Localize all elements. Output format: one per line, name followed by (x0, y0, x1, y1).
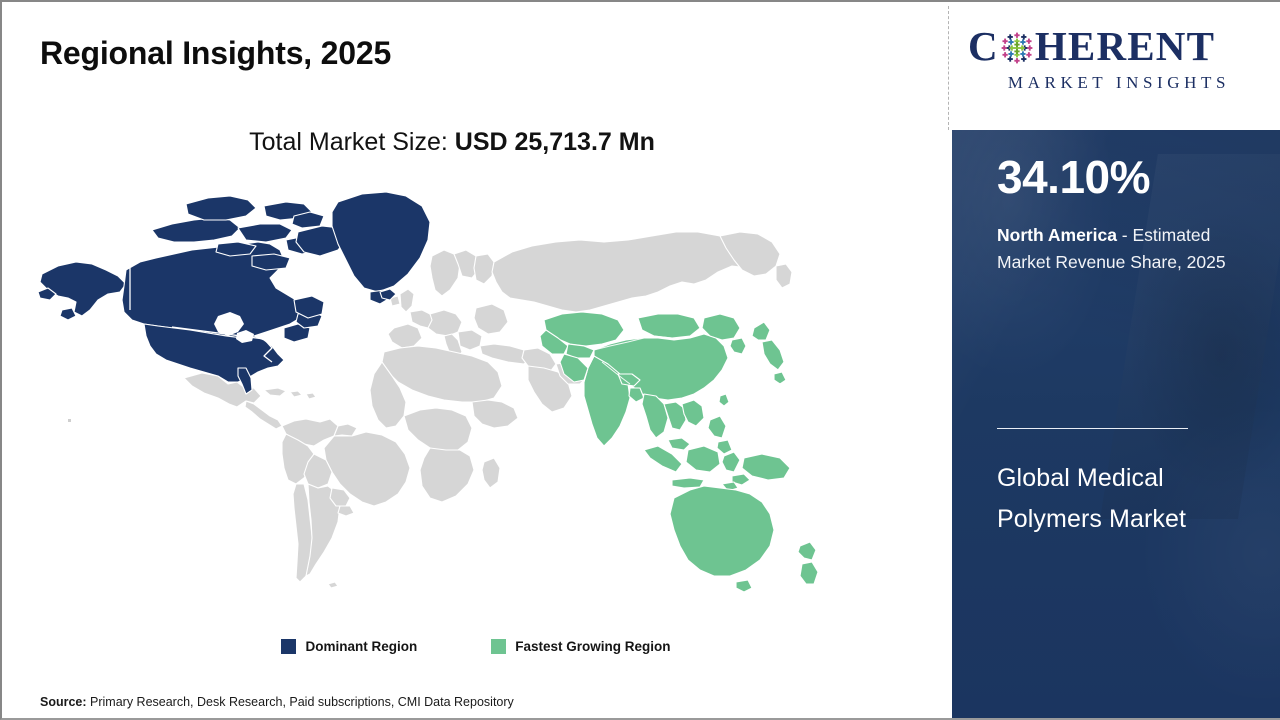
logo-area: C HERENT (952, 2, 1280, 130)
world-map-icon (32, 188, 842, 618)
legend-swatch-dominant-icon (281, 639, 296, 654)
stat-divider (997, 428, 1188, 429)
source-text: Primary Research, Desk Research, Paid su… (87, 695, 514, 709)
revenue-share-region: North America (997, 225, 1117, 245)
infographic-root: Regional Insights, 2025 Total Market Siz… (0, 0, 1280, 720)
legend-label-fastest-growing: Fastest Growing Region (515, 639, 670, 654)
total-market-size-value: USD 25,713.7 Mn (455, 128, 655, 156)
logo-tagline: MARKET INSIGHTS (968, 73, 1268, 93)
logo-wordmark: C HERENT (968, 24, 1268, 68)
globe-dots-icon (1000, 31, 1034, 65)
stat-panel: 34.10% North America - Estimated Market … (952, 130, 1280, 718)
source-note: Source: Primary Research, Desk Research,… (40, 695, 514, 709)
logo-letter-c: C (968, 26, 999, 67)
legend-item-dominant: Dominant Region (281, 639, 417, 654)
legend-swatch-fastest-growing-icon (491, 639, 506, 654)
page-title: Regional Insights, 2025 (40, 35, 391, 72)
world-map-container (32, 188, 842, 618)
map-legend: Dominant Region Fastest Growing Region (2, 639, 950, 654)
vertical-divider (948, 6, 949, 130)
legend-label-dominant: Dominant Region (305, 639, 417, 654)
source-label: Source: (40, 695, 87, 709)
total-market-size-label: Total Market Size: (249, 128, 455, 156)
market-name: Global Medical Polymers Market (997, 458, 1262, 539)
logo-word-herent: HERENT (1035, 26, 1215, 67)
right-sidebar: C HERENT (952, 2, 1280, 718)
total-market-size: Total Market Size: USD 25,713.7 Mn (2, 128, 902, 157)
left-content-pane: Regional Insights, 2025 Total Market Siz… (2, 2, 950, 718)
coherent-market-insights-logo: C HERENT (968, 24, 1268, 93)
legend-item-fastest-growing: Fastest Growing Region (491, 639, 670, 654)
revenue-share-percent: 34.10% (997, 154, 1150, 200)
revenue-share-description: North America - Estimated Market Revenue… (997, 222, 1265, 275)
